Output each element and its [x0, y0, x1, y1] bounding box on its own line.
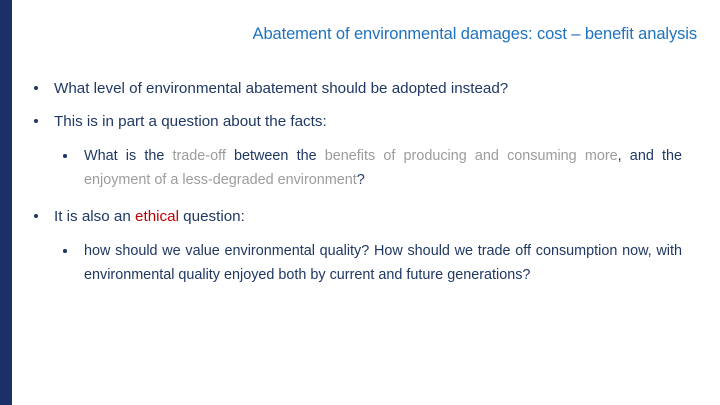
bullet-dot-icon: [63, 154, 67, 158]
bullet-dot-icon: [34, 86, 38, 90]
bullet-level2-trade-off: What is the trade-off between the benefi…: [28, 145, 682, 192]
bullet-text: This is in part a question about the fac…: [54, 113, 327, 130]
slide-body: What level of environmental abatement sh…: [28, 78, 682, 297]
left-accent-bar: [0, 0, 12, 405]
bullet-text: What level of environmental abatement sh…: [54, 80, 508, 97]
bullet-level1-abatement-level: What level of environmental abatement sh…: [28, 78, 682, 100]
slide: Abatement of environmental damages: cost…: [0, 0, 720, 405]
bullet-text-seg-what-is-the: What is the: [84, 148, 173, 164]
bullet-text-seg-between-the: between the: [226, 148, 325, 164]
bullet-text: how should we value environmental qualit…: [84, 243, 682, 283]
bullet-dot-icon: [34, 119, 38, 123]
bullet-text-seg-and-the: and the: [622, 148, 682, 164]
bullet-dot-icon: [63, 249, 67, 253]
bullet-text-seg-it-is-also-an: It is also an: [54, 208, 135, 225]
bullet-text-seg-ethical: ethical: [135, 208, 179, 225]
bullet-text-seg-benefits: benefits of producing and consuming more: [325, 148, 618, 164]
bullet-text-seg-trade-off: trade-off: [173, 148, 226, 164]
bullet-text-seg-enjoyment: enjoyment of a less-degraded environment: [84, 172, 357, 188]
bullet-text-seg-question: question:: [179, 208, 245, 225]
bullet-text-seg-questionmark: ?: [357, 172, 365, 188]
bullet-dot-icon: [34, 214, 38, 218]
slide-title: Abatement of environmental damages: cost…: [40, 24, 697, 44]
bullet-level1-ethical-question: It is also an ethical question:: [28, 206, 682, 228]
bullet-level2-value-environmental-quality: how should we value environmental qualit…: [28, 240, 682, 287]
bullet-level1-question-about-facts: This is in part a question about the fac…: [28, 111, 682, 133]
